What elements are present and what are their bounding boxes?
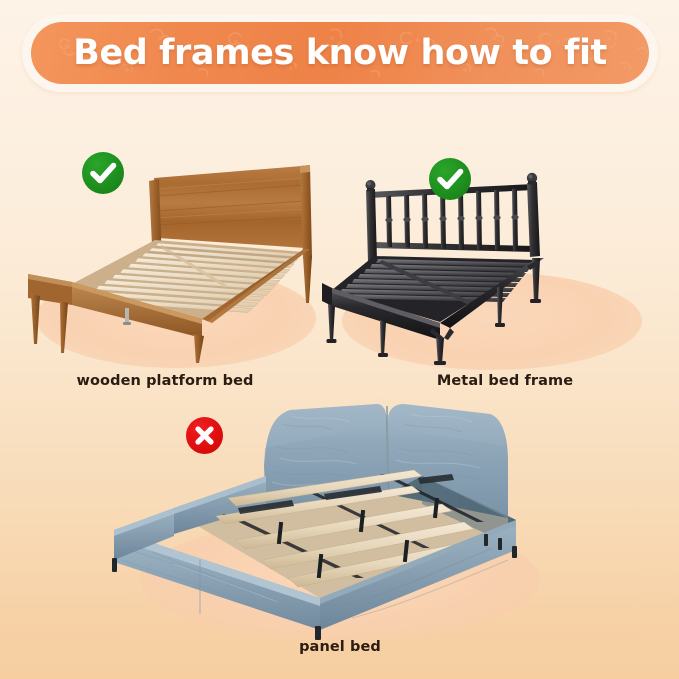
- check-icon: [82, 152, 124, 194]
- header-banner: Bed frames know how to fit: [22, 14, 658, 92]
- metal-bed-frame-illustration: [322, 156, 660, 368]
- wooden-platform-bed-illustration: [12, 148, 332, 363]
- infographic-canvas: Bed frames know how to fit: [0, 0, 679, 679]
- check-badge-metal: [429, 158, 471, 200]
- header-pill: Bed frames know how to fit: [31, 22, 649, 84]
- check-icon: [429, 158, 471, 200]
- caption-panel-bed: panel bed: [180, 639, 500, 655]
- check-badge-wooden: [82, 152, 124, 194]
- page-title: Bed frames know how to fit: [31, 22, 649, 84]
- caption-wooden-platform-bed: wooden platform bed: [0, 373, 330, 389]
- x-badge-panel: [186, 417, 223, 454]
- caption-metal-bed-frame: Metal bed frame: [345, 373, 665, 389]
- panel-bed-illustration: [112, 402, 544, 640]
- x-icon: [186, 417, 223, 454]
